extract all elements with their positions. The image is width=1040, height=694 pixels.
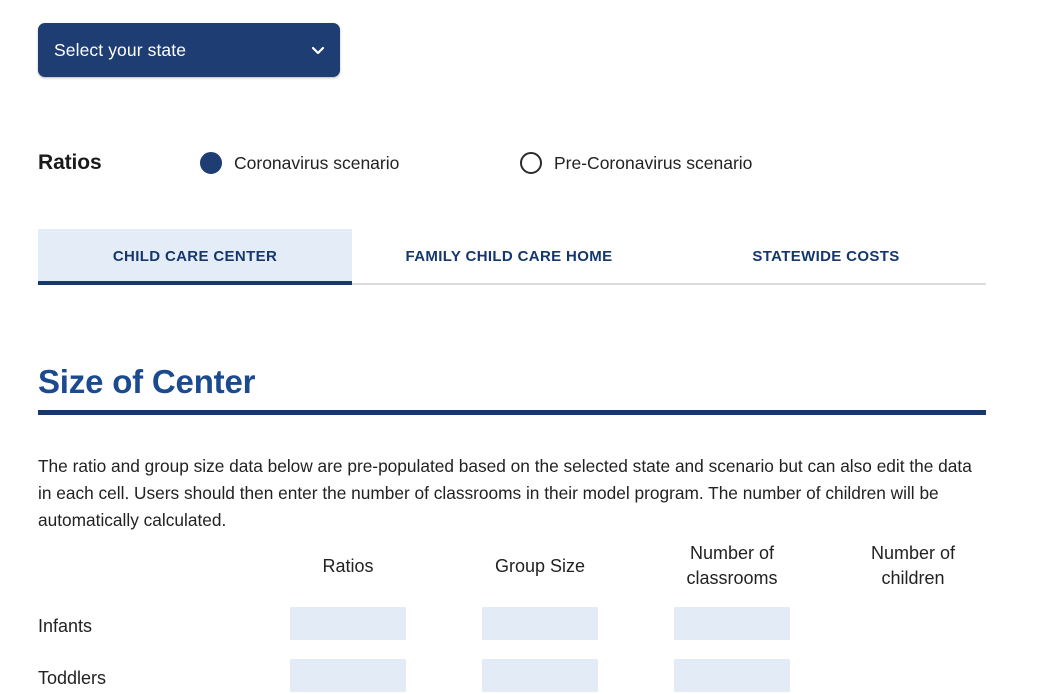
row-label-infants: Infants [38,600,252,652]
table-body: Infants Toddlers [38,600,998,694]
state-select[interactable]: Select your state [38,23,340,77]
table-header-row: Ratios Group Size Number of classrooms N… [38,534,998,600]
tab-child-care-center-label: CHILD CARE CENTER [113,248,277,265]
cell-infants-classrooms [636,600,828,652]
radio-label-coronavirus-scenario: Coronavirus scenario [234,153,399,174]
table-row: Infants [38,600,998,652]
radio-label-pre-coronavirus-scenario: Pre-Coronavirus scenario [554,153,752,174]
input-toddlers-group-size[interactable] [482,659,598,692]
column-header-ratios: Ratios [252,534,444,600]
tab-statewide-costs-label: STATEWIDE COSTS [752,248,899,265]
column-header-category [38,534,252,600]
row-label-toddlers: Toddlers [38,652,252,694]
column-header-number-of-classrooms-line2: classrooms [686,568,777,588]
cell-toddlers-children [828,652,998,694]
radio-option-coronavirus-scenario[interactable]: Coronavirus scenario [200,145,399,181]
input-infants-classrooms[interactable] [674,607,790,640]
column-header-number-of-classrooms: Number of classrooms [636,534,828,600]
state-select-wrapper: Select your state [38,23,340,77]
tab-statewide-costs[interactable]: STATEWIDE COSTS [666,229,986,283]
state-select-label: Select your state [54,40,186,61]
input-infants-ratios[interactable] [290,607,406,640]
tab-family-child-care-home-label: FAMILY CHILD CARE HOME [406,248,613,265]
cell-toddlers-classrooms [636,652,828,694]
tab-family-child-care-home[interactable]: FAMILY CHILD CARE HOME [352,229,666,283]
tab-child-care-center[interactable]: CHILD CARE CENTER [38,229,352,283]
value-infants-children [855,607,971,640]
input-infants-group-size[interactable] [482,607,598,640]
radio-selected-icon [200,152,222,174]
ratios-row: Ratios Coronavirus scenario Pre-Coronavi… [38,145,998,181]
table-head: Ratios Group Size Number of classrooms N… [38,534,998,600]
radio-unselected-icon [520,152,542,174]
cell-infants-group-size [444,600,636,652]
column-header-group-size: Group Size [444,534,636,600]
size-of-center-table: Ratios Group Size Number of classrooms N… [38,534,998,694]
radio-option-pre-coronavirus-scenario[interactable]: Pre-Coronavirus scenario [520,145,752,181]
heading-divider [38,410,986,415]
column-header-number-of-children: Number of children [828,534,998,600]
value-toddlers-children [855,659,971,692]
column-header-number-of-children-line2: children [881,568,944,588]
cell-infants-ratios [252,600,444,652]
column-header-number-of-children-line1: Number of [871,543,955,563]
input-toddlers-ratios[interactable] [290,659,406,692]
ratios-label: Ratios [38,145,102,181]
page-title: Size of Center [38,360,986,404]
input-toddlers-classrooms[interactable] [674,659,790,692]
cell-toddlers-ratios [252,652,444,694]
tab-bar: CHILD CARE CENTER FAMILY CHILD CARE HOME… [38,229,986,285]
child-care-cost-model-page: Select your state Ratios Coronavirus sce… [0,0,1040,694]
cell-toddlers-group-size [444,652,636,694]
table-row: Toddlers [38,652,998,694]
section-heading: Size of Center [38,360,986,415]
cell-infants-children [828,600,998,652]
column-header-number-of-classrooms-line1: Number of [690,543,774,563]
section-description: The ratio and group size data below are … [38,453,990,534]
